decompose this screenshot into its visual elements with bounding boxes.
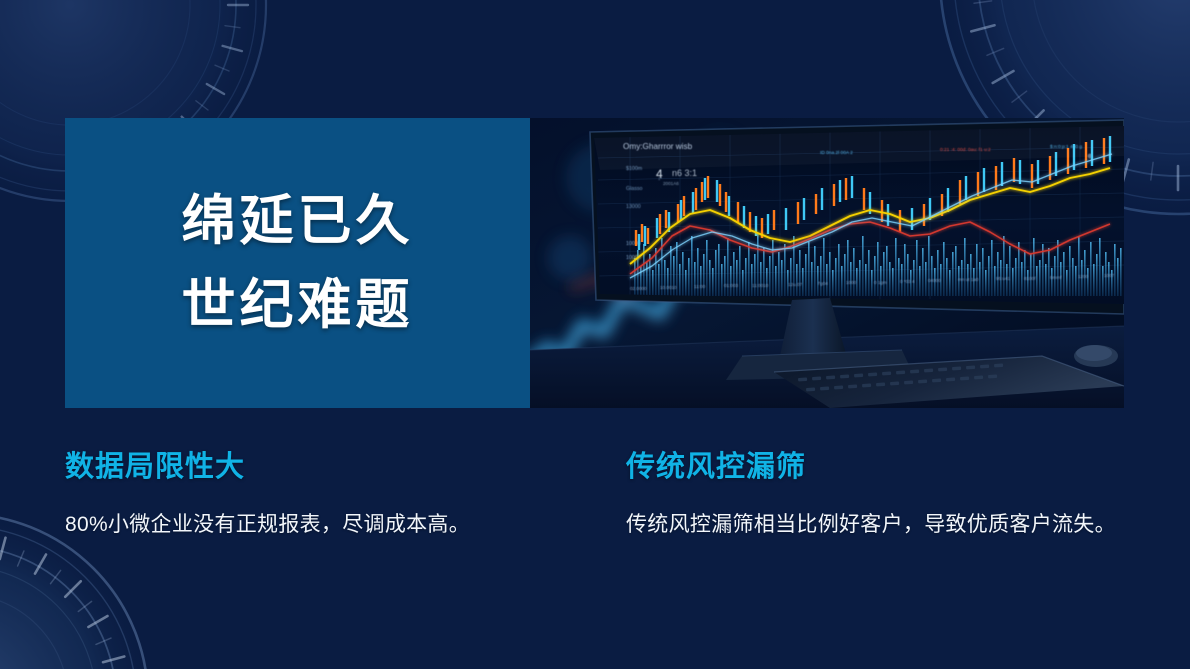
svg-text:01:003: 01:003 xyxy=(724,283,738,288)
svg-text:10.0010: 10.0010 xyxy=(660,285,677,290)
hero-title-panel: 绵延已久 世纪难题 xyxy=(65,118,530,408)
column-body-2: 传统风控漏筛相当比例好客户，导致优质客户流失。 xyxy=(626,506,1125,543)
svg-text:0 *03 4: 0 *03 4 xyxy=(900,279,915,284)
svg-text:2001A6: 2001A6 xyxy=(663,181,679,186)
detail-column-data-limitation: 数据局限性大 80%小微企业没有正规报表，尽调成本高。 xyxy=(65,443,564,543)
svg-text:1000: 1000 xyxy=(846,280,857,285)
svg-text:1*: 1* xyxy=(658,176,662,181)
svg-text:12u.07: 12u.07 xyxy=(788,282,802,287)
svg-text:6mmf: 6mmf xyxy=(1050,275,1062,280)
column-heading-1: 数据局限性大 xyxy=(65,443,564,485)
detail-columns: 数据局限性大 80%小微企业没有正规报表，尽调成本高。 传统风控漏筛 传统风控漏… xyxy=(65,443,1125,543)
column-heading-2: 传统风控漏筛 xyxy=(626,443,1125,485)
svg-text:0 1gm: 0 1gm xyxy=(874,280,887,285)
svg-text:n6 3:1: n6 3:1 xyxy=(672,168,697,178)
svg-text:13000: 13000 xyxy=(626,204,641,210)
hero-band: 绵延已久 世纪难题 xyxy=(65,118,1124,408)
svg-text:1200: 1200 xyxy=(1078,274,1089,279)
svg-text:11:00: 11:00 xyxy=(694,284,706,289)
svg-text:02.0000: 02.0000 xyxy=(630,286,647,291)
hero-title-line-2: 世纪难题 xyxy=(182,276,414,334)
svg-text:11:0010: 11:0010 xyxy=(752,283,769,288)
svg-text:f'g04: f'g04 xyxy=(818,281,828,286)
column-body-1: 80%小微企业没有正规报表，尽调成本高。 xyxy=(65,506,564,543)
hero-photo-stock-chart: Omy:Gharrror wisb $100m Glasso 13000 100… xyxy=(530,118,1124,408)
svg-text:Glasso: Glasso xyxy=(626,186,643,192)
svg-text:8100f: 8100f xyxy=(1024,276,1036,281)
hero-title-line-1: 绵延已久 xyxy=(182,192,414,250)
svg-text:04000: 04000 xyxy=(928,278,941,283)
svg-text:95:u41: 95:u41 xyxy=(996,276,1010,281)
svg-text:mn ut 1a0: mn ut 1a0 xyxy=(958,277,979,282)
svg-text:1007: 1007 xyxy=(1104,273,1115,278)
detail-column-risk-control: 传统风控漏筛 传统风控漏筛相当比例好客户，导致优质客户流失。 xyxy=(626,443,1125,543)
